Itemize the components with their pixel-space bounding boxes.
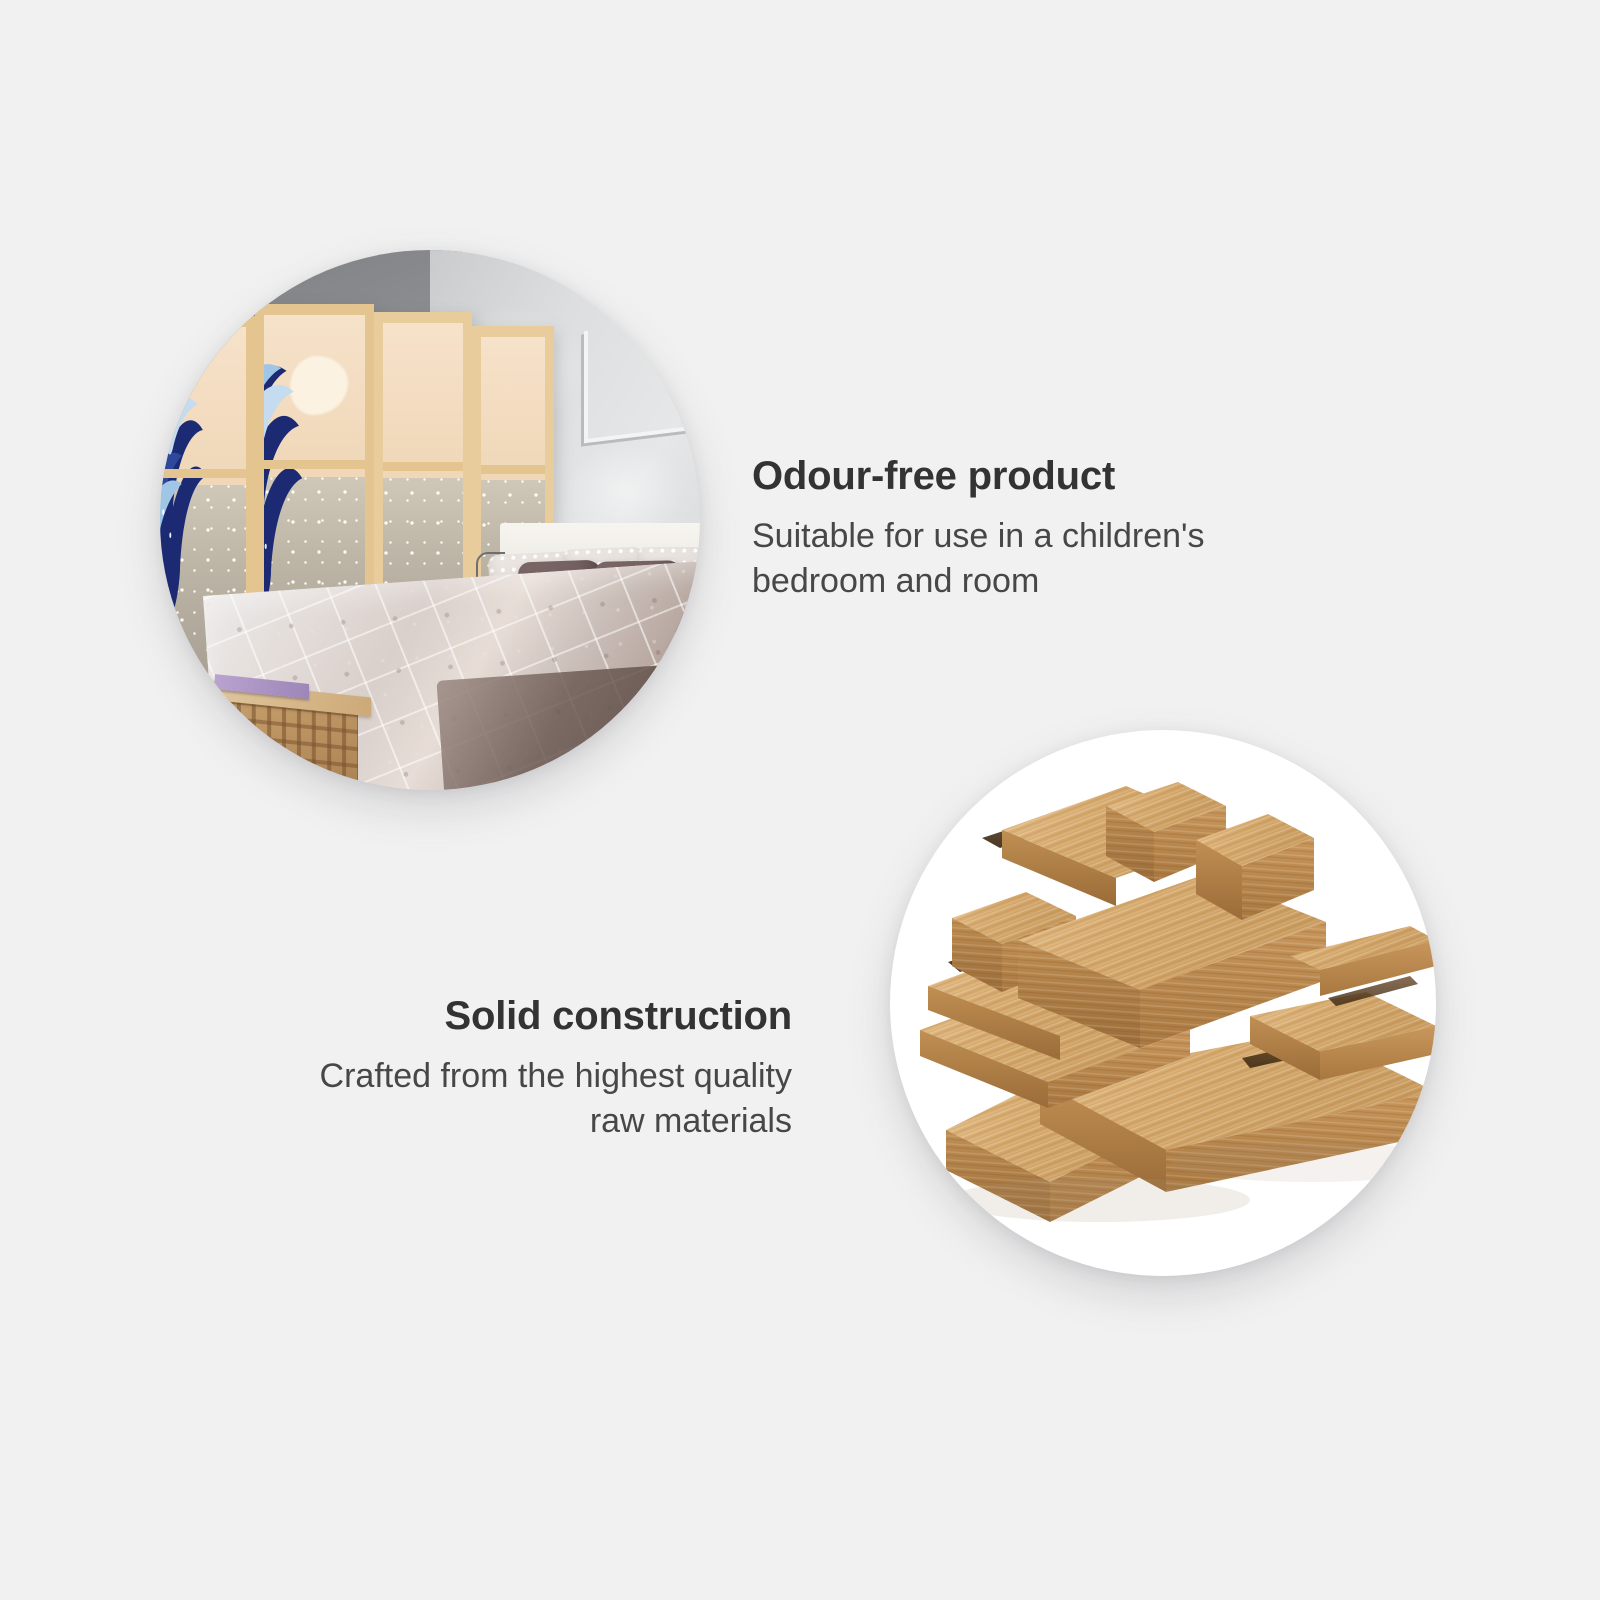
quilt-shadow-band xyxy=(436,662,700,790)
picture-frame xyxy=(584,315,700,443)
feature-image-odour-free xyxy=(160,250,700,790)
feature-title: Odour-free product xyxy=(752,452,1272,500)
bedroom-scene xyxy=(160,250,700,790)
feature-description: Crafted from the highest quality raw mat… xyxy=(268,1054,792,1144)
artwork-sky xyxy=(472,327,554,480)
side-table xyxy=(209,679,371,790)
artwork-sky xyxy=(374,313,472,478)
stacked-wood-planks-illustration xyxy=(890,730,1436,1276)
wood-planks-scene xyxy=(890,730,1436,1276)
feature-text-solid-construction: Solid construction Crafted from the high… xyxy=(268,992,792,1144)
feature-text-odour-free: Odour-free product Suitable for use in a… xyxy=(752,452,1272,604)
feature-highlights-banner: Odour-free product Suitable for use in a… xyxy=(0,0,1600,1600)
contact-shadow xyxy=(950,1178,1250,1222)
feature-image-solid-construction xyxy=(890,730,1436,1276)
feature-description: Suitable for use in a children's bedroom… xyxy=(752,514,1272,604)
feature-title: Solid construction xyxy=(268,992,792,1040)
